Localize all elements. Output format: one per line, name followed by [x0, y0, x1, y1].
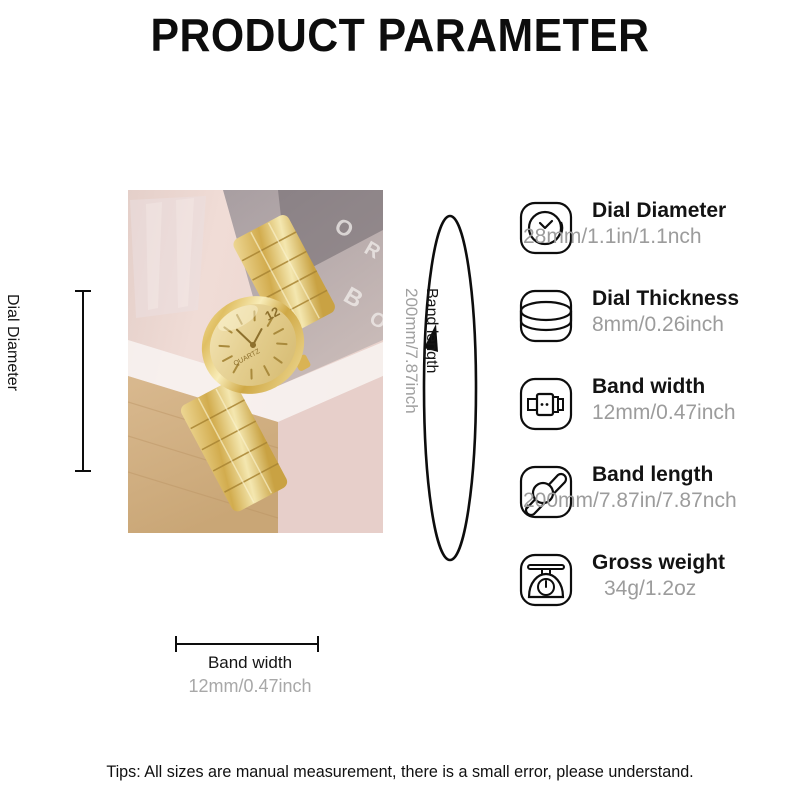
- dial-diameter-caliper: [74, 290, 92, 472]
- watch-buckle-icon: [518, 376, 574, 432]
- dial-diameter-caliper-label: Dial Diameter: [3, 294, 22, 474]
- spec-row-gross-weight: Gross weight 34g/1.2oz: [518, 552, 793, 640]
- caliper-line: [82, 290, 84, 472]
- spec-row-band-width: Band width 12mm/0.47inch: [518, 376, 793, 464]
- caliper-cap-top: [75, 290, 91, 292]
- spec-label: Dial Thickness: [592, 286, 800, 312]
- band-width-caliper: [175, 636, 319, 652]
- spec-row-band-length: Band length 200mm/7.87in/7.87nch: [518, 464, 793, 552]
- caliper-line: [175, 643, 319, 645]
- watch-photo-illustration: O R B O: [128, 190, 383, 533]
- spec-row-dial-diameter: Dial Diameter 28mm/1.1in/1.1nch: [518, 200, 793, 288]
- band-width-caliper-label: Band width: [120, 652, 380, 674]
- spec-text-band-width: Band width 12mm/0.47inch: [592, 374, 800, 426]
- spec-value: 28mm/1.1in/1.1nch: [523, 224, 773, 250]
- spec-list: Dial Diameter 28mm/1.1in/1.1nch Dial Thi…: [518, 200, 793, 640]
- spec-text-dial-thickness: Dial Thickness 8mm/0.26inch: [592, 286, 800, 338]
- dial-diameter-caliper-text: Dial Diameter 28mm/1.1inch: [0, 294, 22, 474]
- spec-label: Gross weight: [592, 550, 800, 576]
- dial-diameter-caliper-value: 28mm/1.1inch: [0, 294, 3, 474]
- spec-value: 34g/1.2oz: [604, 576, 800, 602]
- spec-label: Band length: [592, 462, 800, 488]
- page-title: PRODUCT PARAMETER: [28, 8, 772, 62]
- spec-text-band-length: Band length 200mm/7.87in/7.87nch: [592, 462, 800, 514]
- spec-value: 12mm/0.47inch: [592, 400, 800, 426]
- disc-thickness-icon: [518, 288, 574, 344]
- band-width-caliper-text: Band width 12mm/0.47inch: [120, 652, 380, 698]
- spec-text-dial-diameter: Dial Diameter 28mm/1.1in/1.1nch: [592, 198, 800, 250]
- product-photo: O R B O: [128, 190, 383, 533]
- band-length-loop-value: 200mm/7.87inch: [401, 288, 422, 498]
- spec-label: Band width: [592, 374, 800, 400]
- caliper-cap-left: [175, 636, 177, 652]
- kitchen-scale-icon: [518, 552, 574, 608]
- spec-value: 200mm/7.87in/7.87nch: [523, 488, 773, 514]
- band-length-loop-text: Band length 200mm/7.87inch: [399, 288, 441, 498]
- tips-text: Tips: All sizes are manual measurement, …: [20, 762, 780, 782]
- spec-row-dial-thickness: Dial Thickness 8mm/0.26inch: [518, 288, 793, 376]
- spec-value: 8mm/0.26inch: [592, 312, 800, 338]
- spec-text-gross-weight: Gross weight 34g/1.2oz: [592, 550, 800, 602]
- band-length-loop-label: Band length: [422, 288, 441, 498]
- caliper-cap-bottom: [75, 470, 91, 472]
- spec-label: Dial Diameter: [592, 198, 800, 224]
- caliper-cap-right: [317, 636, 319, 652]
- band-width-caliper-value: 12mm/0.47inch: [120, 674, 380, 698]
